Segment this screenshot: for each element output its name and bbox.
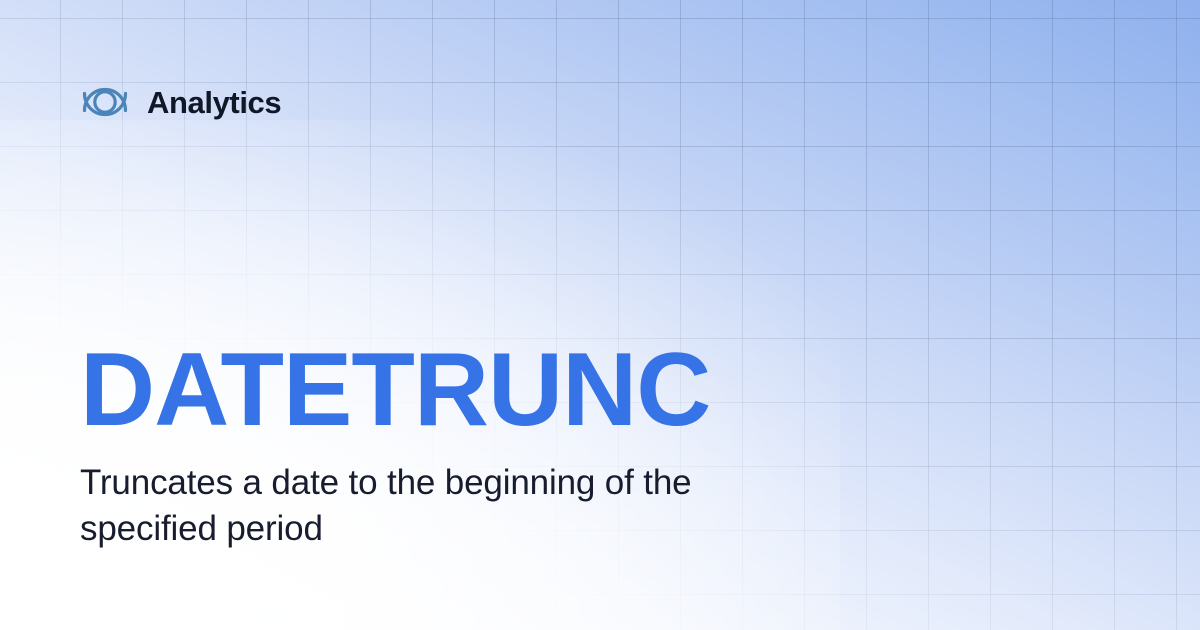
function-name-title: DATETRUNC bbox=[80, 336, 920, 444]
og-banner-card: Analytics DATETRUNC Truncates a date to … bbox=[0, 0, 1200, 630]
brand-name-label: Analytics bbox=[147, 87, 281, 118]
brand-lockup: Analytics bbox=[80, 80, 281, 124]
analytics-eye-lens-icon bbox=[80, 80, 130, 124]
main-content: DATETRUNC Truncates a date to the beginn… bbox=[80, 336, 920, 551]
function-description: Truncates a date to the beginning of the… bbox=[80, 460, 780, 551]
